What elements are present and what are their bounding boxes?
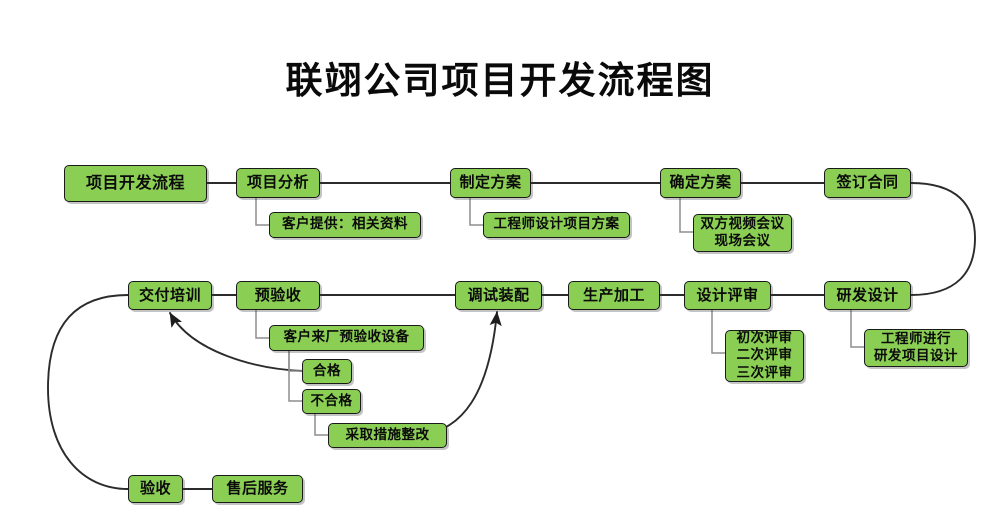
node-debug-assembly[interactable]: 调试装配 (455, 281, 542, 310)
node-sign-contract[interactable]: 签订合同 (824, 168, 911, 198)
node-engineer-designs-project-plan[interactable]: 工程师设计项目方案 (483, 212, 630, 238)
node-engineer-rnd-project-design[interactable]: 工程师进行 研发项目设计 (864, 329, 968, 367)
node-unqualified[interactable]: 不合格 (302, 389, 361, 414)
wire-preacceptsub-to-fail (289, 351, 302, 401)
node-project-analysis[interactable]: 项目分析 (236, 168, 320, 198)
node-customer-provides-materials[interactable]: 客户提供：相关资料 (269, 212, 421, 238)
node-formulate-plan[interactable]: 制定方案 (450, 168, 531, 198)
node-take-corrective-measures[interactable]: 采取措施整改 (328, 423, 447, 448)
wire-analysis-to-sub (256, 196, 269, 225)
node-design-review[interactable]: 设计评审 (684, 281, 771, 310)
connector-layer (0, 0, 1000, 532)
node-production-processing[interactable]: 生产加工 (568, 281, 660, 310)
wire-confirm-to-sub (680, 196, 693, 232)
node-review-rounds[interactable]: 初次评审 二次评审 三次评审 (725, 330, 804, 382)
node-qualified[interactable]: 合格 (302, 359, 352, 384)
node-acceptance[interactable]: 验收 (128, 475, 183, 503)
node-rnd-design[interactable]: 研发设计 (824, 281, 911, 310)
node-meetings[interactable]: 双方视频会议 现场会议 (693, 214, 792, 252)
wire-plan-to-sub (470, 196, 483, 225)
node-project-development-process[interactable]: 项目开发流程 (64, 165, 207, 202)
wire-preaccept-to-sub (256, 308, 269, 338)
flowchart-canvas: 联翊公司项目开发流程图 (0, 0, 1000, 532)
node-confirm-plan[interactable]: 确定方案 (660, 168, 741, 198)
wire-delivery-to-acceptance (48, 295, 128, 489)
wire-fail-to-fix (315, 414, 328, 435)
node-delivery-training[interactable]: 交付培训 (128, 281, 212, 310)
wire-fix-to-assembly-arrow (421, 312, 497, 435)
wire-review-to-sub (712, 308, 725, 353)
wire-contract-to-rnd (911, 183, 975, 295)
node-customer-visits-factory-pre-acceptance[interactable]: 客户来厂预验收设备 (269, 325, 424, 351)
node-after-sales-service[interactable]: 售后服务 (212, 475, 303, 503)
wire-rnd-to-sub (851, 308, 864, 347)
wire-preacceptsub-to-pass (289, 351, 302, 371)
node-pre-acceptance[interactable]: 预验收 (236, 281, 320, 310)
